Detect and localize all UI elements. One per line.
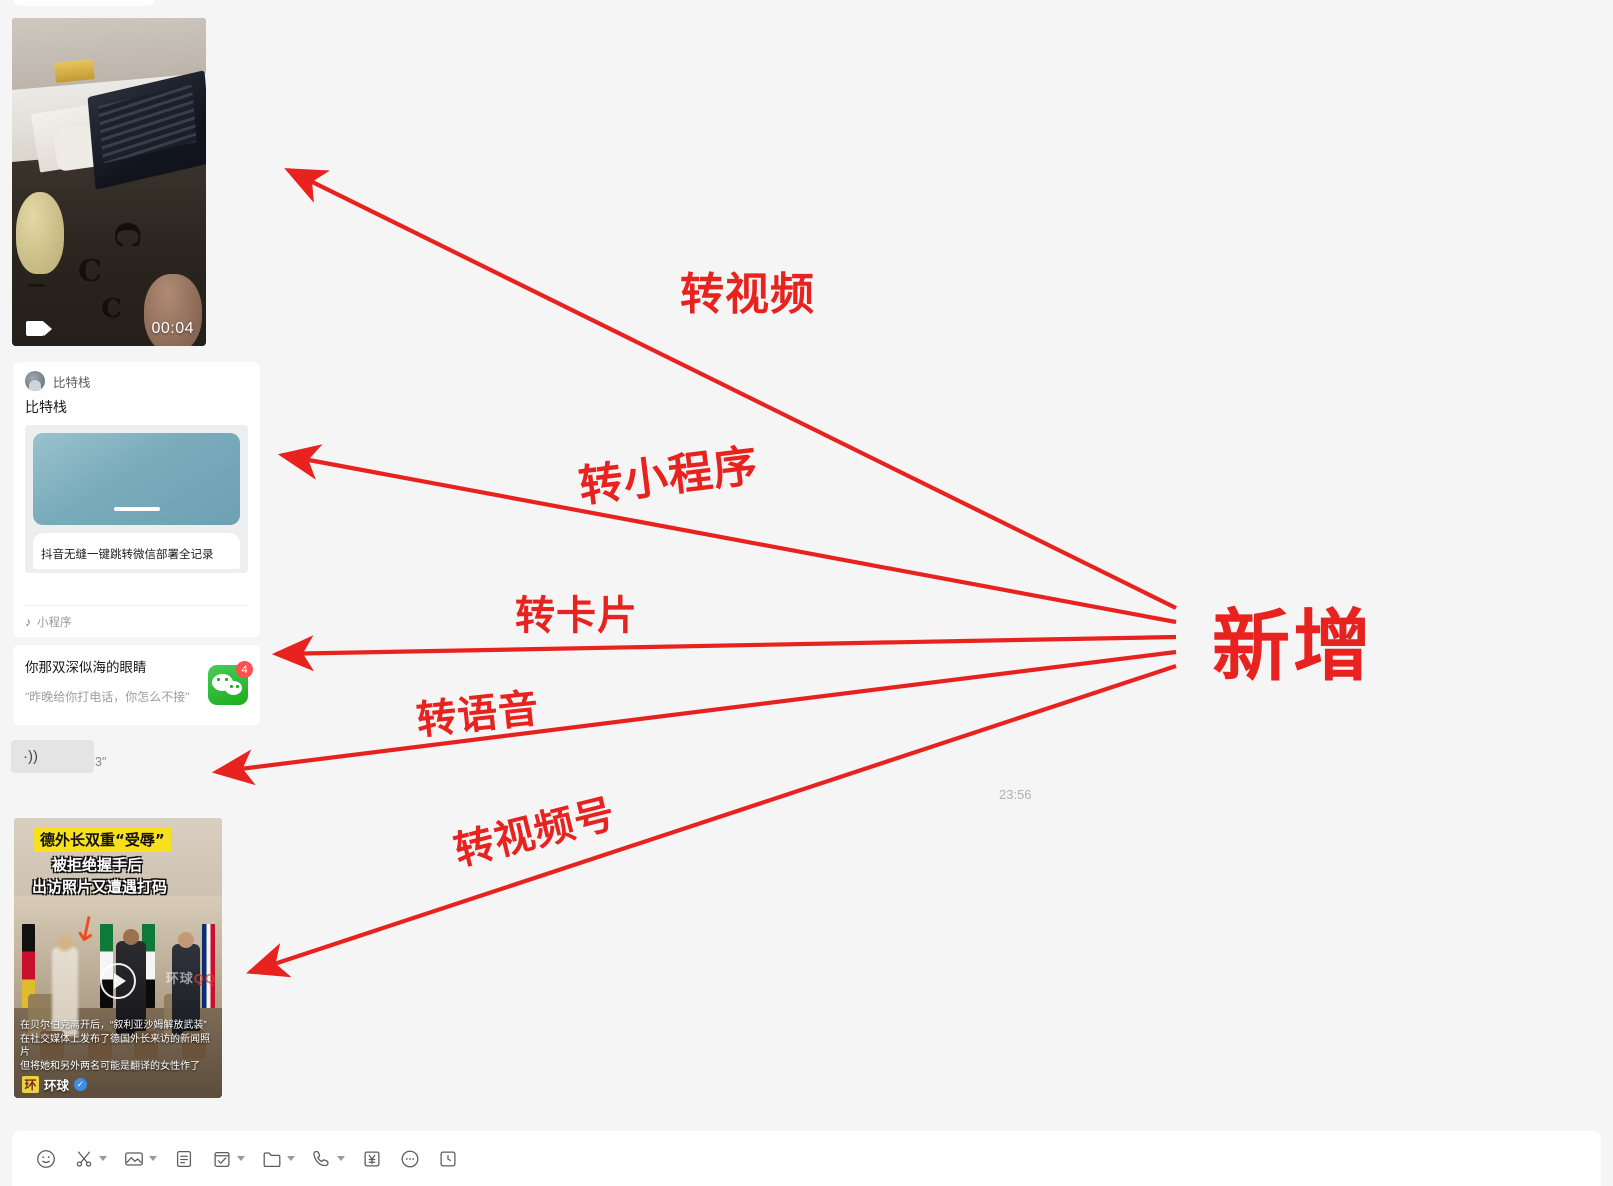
- history-icon[interactable]: [430, 1142, 466, 1176]
- avatar: [25, 371, 45, 391]
- money-icon[interactable]: [354, 1142, 390, 1176]
- image-icon[interactable]: [116, 1142, 164, 1176]
- channels-headline-1: 德外长双重“受辱”: [34, 827, 171, 852]
- chevron-down-icon[interactable]: [149, 1156, 157, 1161]
- miniprogram-footer-label: 小程序: [37, 614, 72, 630]
- emoji-icon[interactable]: [28, 1142, 64, 1176]
- miniprogram-caption: 抖音无缝一键跳转微信部署全记录: [33, 539, 240, 569]
- arrow-to-voice: [216, 652, 1176, 772]
- miniprogram-thumbnail[interactable]: ◁)) ♪ 抖音无缝一键跳转微信部署全记录: [25, 425, 248, 573]
- channels-subtitle-line-2: 在社交媒体上发布了德国外长来访的新闻照片: [20, 1033, 216, 1060]
- verified-badge-icon: ✓: [74, 1078, 87, 1091]
- channels-account-logo: 环: [22, 1076, 39, 1093]
- video-camera-icon: [26, 320, 52, 337]
- arrow-to-channels: [250, 666, 1176, 972]
- sound-wave-icon: ·)): [23, 748, 38, 765]
- unread-badge: 4: [236, 661, 253, 678]
- channels-headline-3: 出访照片又遭遇打码: [32, 876, 167, 897]
- annotation-label-card: 转卡片: [515, 583, 638, 641]
- link-card-app-badge: 4: [208, 665, 250, 707]
- message-timestamp: 23:56: [999, 787, 1032, 802]
- channels-headline-2: 被拒绝握手后: [52, 854, 142, 875]
- annotation-label-miniprogram: 转小程序: [575, 429, 761, 514]
- channels-subtitle-line-3: 但将她和另外两名可能是翻译的女性作了: [20, 1060, 216, 1074]
- watermark: 环球QQ: [166, 968, 216, 987]
- video-thumbnail: C C C —: [12, 18, 206, 346]
- miniprogram-header: 比特栈: [13, 362, 260, 395]
- chevron-down-icon[interactable]: [337, 1156, 345, 1161]
- chevron-down-icon[interactable]: [287, 1156, 295, 1161]
- more-icon[interactable]: [392, 1142, 428, 1176]
- folder-icon[interactable]: [254, 1142, 302, 1176]
- scissors-icon[interactable]: [66, 1142, 114, 1176]
- chevron-down-icon[interactable]: [99, 1156, 107, 1161]
- arrow-to-card: [276, 637, 1176, 654]
- channels-subtitle: 在贝尔伯克离开后，“叙利亚沙姆解放武装” 在社交媒体上发布了德国外长来访的新闻照…: [20, 1019, 216, 1073]
- checklist-icon[interactable]: [204, 1142, 252, 1176]
- miniprogram-footer: ♪ 小程序: [25, 605, 248, 637]
- play-icon[interactable]: [100, 963, 136, 999]
- annotation-callout-new: 新增: [1212, 584, 1374, 696]
- chat-window: C C C — 00:04 比特栈 比特栈 ◁)) ♪ 抖音无缝一键跳转微信部署…: [0, 0, 1613, 1186]
- document-icon[interactable]: [166, 1142, 202, 1176]
- miniprogram-message-card[interactable]: 比特栈 比特栈 ◁)) ♪ 抖音无缝一键跳转微信部署全记录 ♪ 小程序: [13, 362, 260, 637]
- previous-message-stub: [14, 0, 154, 6]
- miniprogram-nickname: 比特栈: [53, 372, 91, 391]
- arrow-to-video: [288, 170, 1176, 608]
- miniprogram-icon: ♪: [25, 615, 31, 629]
- channels-video-card[interactable]: 德外长双重“受辱” 被拒绝握手后 出访照片又遭遇打码 ↓ 环球QQ 在贝尔伯克离…: [14, 818, 222, 1098]
- video-message-bubble[interactable]: C C C — 00:04: [12, 18, 206, 346]
- chevron-down-icon[interactable]: [237, 1156, 245, 1161]
- link-message-card[interactable]: 你那双深似海的眼睛 "昨晚给你打电话，你怎么不接" 4: [13, 645, 260, 725]
- video-duration: 00:04: [151, 320, 194, 338]
- voice-message-bubble[interactable]: ·)): [11, 740, 94, 773]
- channels-account[interactable]: 环 环球 ✓: [22, 1075, 87, 1094]
- miniprogram-title: 比特栈: [13, 395, 260, 425]
- channels-subtitle-line-1: 在贝尔伯克离开后，“叙利亚沙姆解放武装”: [20, 1019, 216, 1033]
- voice-duration: 3": [95, 755, 106, 769]
- annotation-label-channels: 转视频号: [447, 781, 620, 877]
- composer-toolbar: [12, 1131, 1601, 1186]
- channels-account-name: 环球: [44, 1075, 69, 1094]
- annotation-label-video: 转视频: [680, 258, 815, 322]
- phone-icon[interactable]: [304, 1142, 352, 1176]
- annotation-label-voice: 转语音: [413, 676, 541, 747]
